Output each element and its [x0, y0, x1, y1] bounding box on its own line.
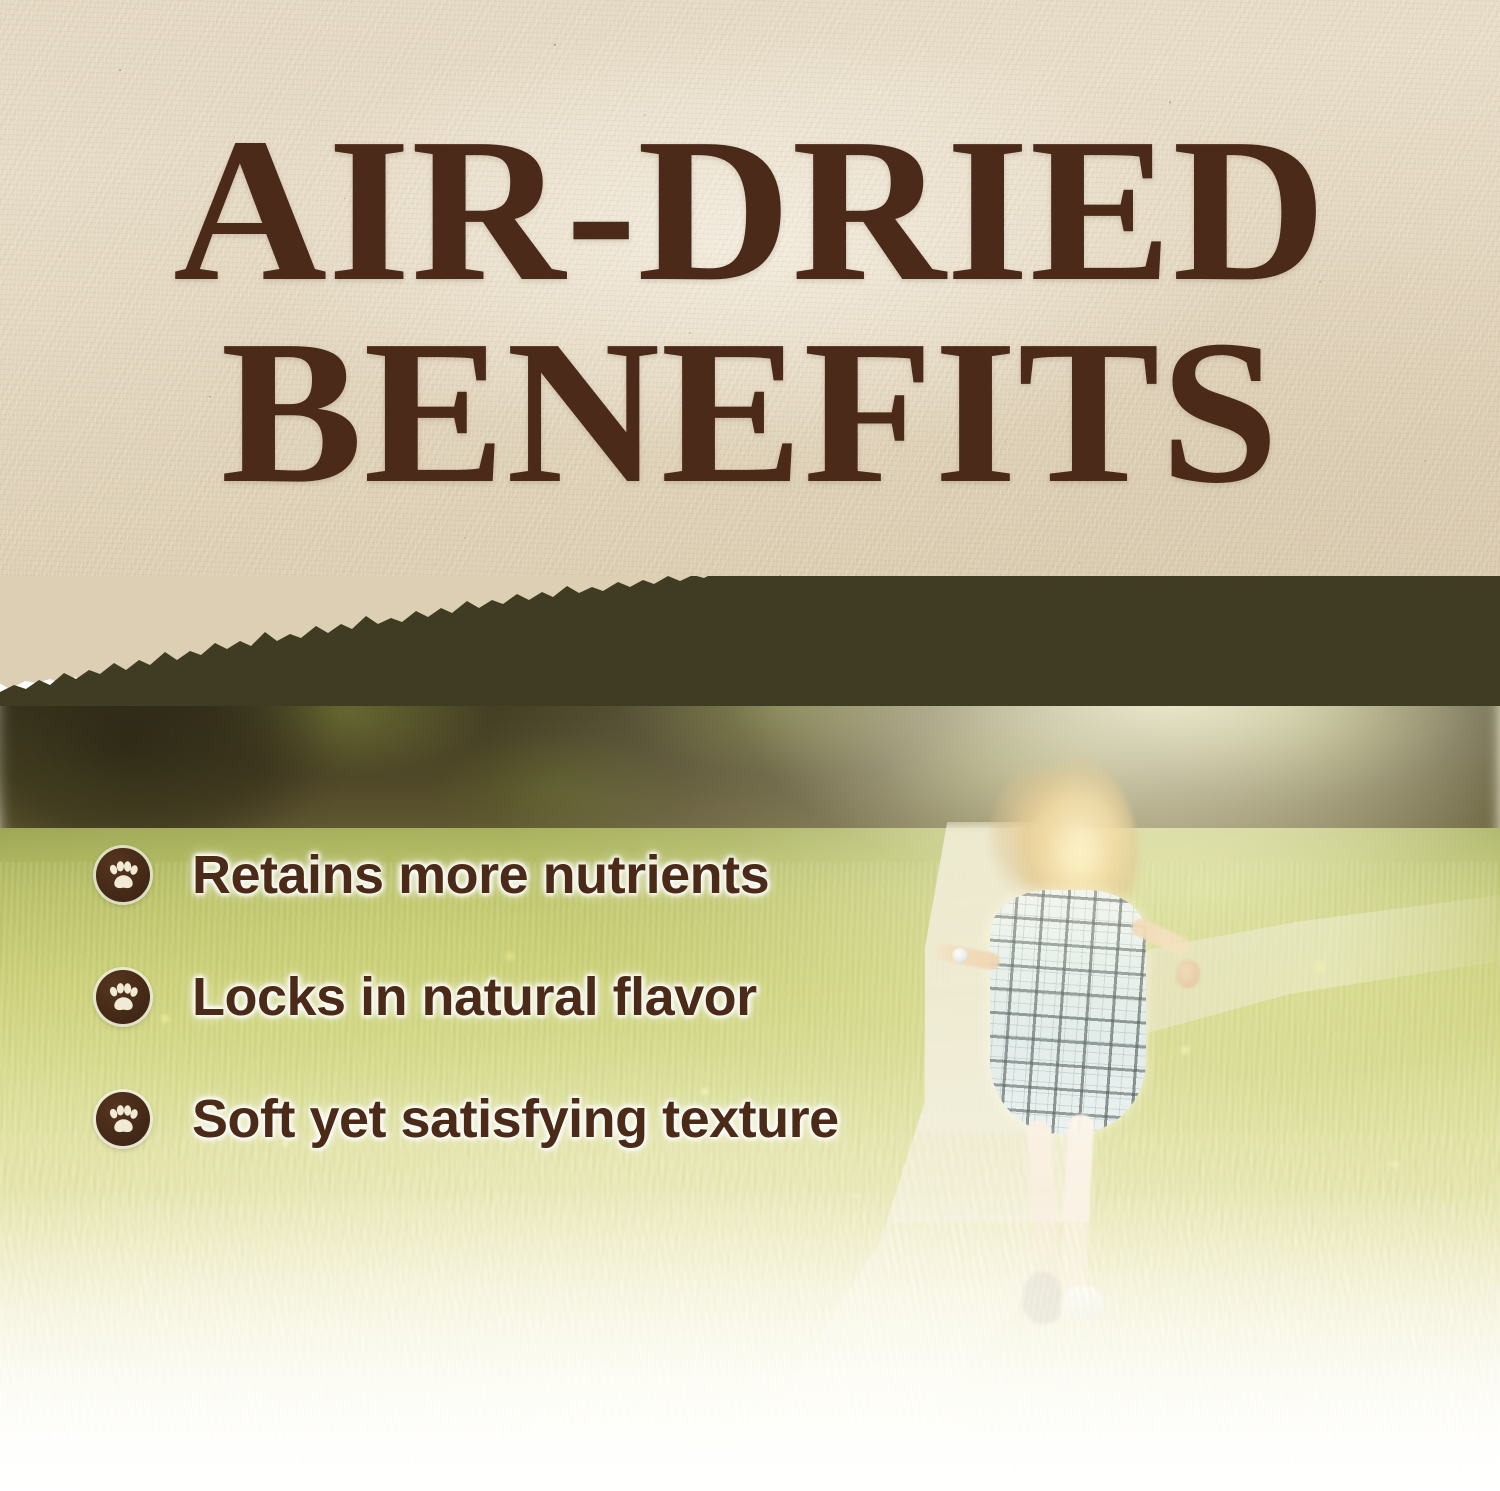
paw-print-icon — [96, 848, 150, 902]
list-item: Locks in natural flavor — [0, 960, 1060, 1034]
benefits-list: Retains more nutrients Locks in natural … — [0, 838, 1060, 1204]
list-item-label: Soft yet satisfying texture — [192, 1092, 839, 1146]
list-item: Retains more nutrients — [0, 838, 1060, 912]
list-item-label: Retains more nutrients — [192, 848, 769, 902]
list-item: Soft yet satisfying texture — [0, 1082, 1060, 1156]
paw-print-icon — [96, 1092, 150, 1146]
headline-line-2: BENEFITS — [0, 314, 1500, 510]
paw-print-icon — [96, 970, 150, 1024]
page-title: AIR-DRIED BENEFITS — [0, 0, 1500, 509]
list-item-label: Locks in natural flavor — [192, 970, 757, 1024]
headline-line-1: AIR-DRIED — [0, 112, 1500, 308]
right-hand — [1176, 960, 1200, 988]
bottom-white-fade — [0, 1191, 1500, 1491]
air-dried-benefits-graphic: AIR-DRIED BENEFITS — [0, 0, 1500, 1491]
